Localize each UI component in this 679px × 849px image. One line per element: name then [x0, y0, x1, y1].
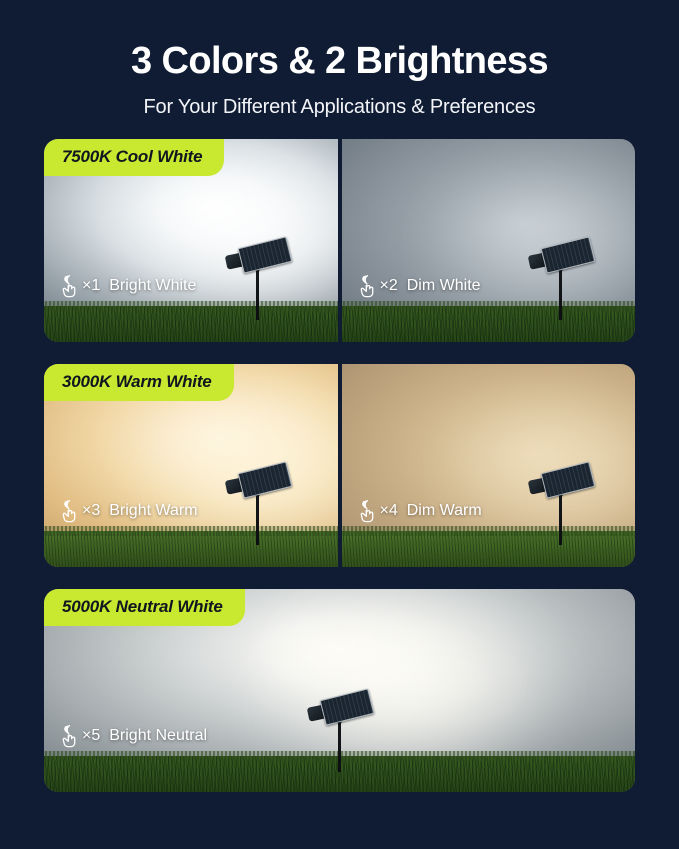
tap-gesture-icon — [356, 274, 378, 298]
mode-name: Dim White — [407, 277, 481, 295]
scene-panel-dim-white[interactable]: ×2 Dim White — [342, 139, 636, 342]
tap-count: ×3 — [82, 502, 100, 520]
tap-gesture-icon — [58, 724, 80, 748]
mode-caption-bright-neutral: ×5 Bright Neutral — [58, 724, 207, 748]
mode-caption-dim-warm: ×4 Dim Warm — [356, 499, 482, 523]
header: 3 Colors & 2 Brightness For Your Differe… — [0, 0, 679, 119]
tap-count: ×1 — [82, 277, 100, 295]
solar-panel — [541, 236, 596, 273]
tap-count: ×5 — [82, 727, 100, 745]
page-subtitle: For Your Different Applications & Prefer… — [0, 96, 679, 119]
lamp-stake — [559, 493, 562, 545]
badge-cool-white: 7500K Cool White — [44, 139, 224, 176]
lamp-stake — [256, 493, 259, 545]
mode-name: Dim Warm — [407, 502, 482, 520]
solar-panel — [238, 236, 293, 273]
solar-panel — [238, 461, 293, 498]
color-temp-card-neutral-white: 5000K Neutral White — [44, 589, 635, 792]
mode-caption-bright-white: ×1 Bright White — [58, 274, 196, 298]
solar-spotlight-fixture — [523, 459, 599, 543]
page-title: 3 Colors & 2 Brightness — [0, 42, 679, 82]
mode-name: Bright White — [109, 277, 196, 295]
tap-count: ×2 — [380, 277, 398, 295]
mode-name: Bright Warm — [109, 502, 197, 520]
lamp-stake — [338, 720, 341, 772]
lamp-stake — [559, 268, 562, 320]
solar-spotlight-fixture — [302, 686, 378, 770]
badge-neutral-white: 5000K Neutral White — [44, 589, 245, 626]
lighting-mode-cards: 7500K Cool White — [0, 139, 679, 792]
solar-spotlight-fixture — [220, 234, 296, 318]
color-temp-card-cool-white: 7500K Cool White — [44, 139, 635, 342]
solar-spotlight-fixture — [220, 459, 296, 543]
mode-caption-dim-white: ×2 Dim White — [356, 274, 481, 298]
color-temp-card-warm-white: 3000K Warm White — [44, 364, 635, 567]
scene-panel-dim-warm[interactable]: ×4 Dim Warm — [342, 364, 636, 567]
tap-count: ×4 — [380, 502, 398, 520]
solar-spotlight-fixture — [523, 234, 599, 318]
tap-gesture-icon — [58, 499, 80, 523]
solar-panel — [541, 461, 596, 498]
lamp-stake — [256, 268, 259, 320]
solar-panel — [319, 688, 374, 725]
tap-gesture-icon — [356, 499, 378, 523]
tap-gesture-icon — [58, 274, 80, 298]
mode-name: Bright Neutral — [109, 727, 207, 745]
badge-warm-white: 3000K Warm White — [44, 364, 234, 401]
mode-caption-bright-warm: ×3 Bright Warm — [58, 499, 198, 523]
